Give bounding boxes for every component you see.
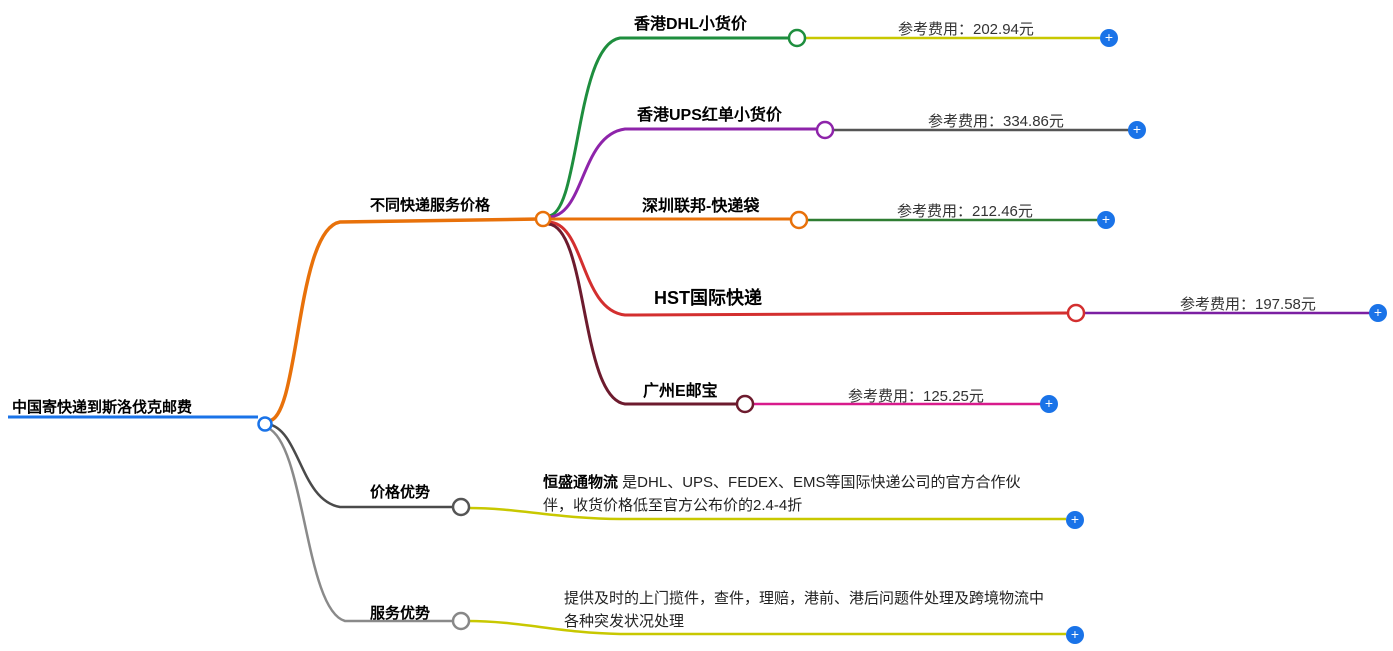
expand-button-service-advantage[interactable]: + [1066,626,1084,644]
root-node-label[interactable]: 中国寄快递到斯洛伐克邮费 [12,398,192,418]
node-dot-hk-dhl[interactable] [789,30,805,46]
mindmap-canvas [0,0,1393,651]
branch-price-advantage-label[interactable]: 价格优势 [370,483,430,503]
price-advantage-company: 恒盛通物流 [543,474,618,491]
service-advantage-description: 提供及时的上门揽件，查件，理赔，港前、港后问题件处理及跨境物流中各种突发状况处理 [564,588,1054,633]
price-advantage-description: 恒盛通物流 是DHL、UPS、FEDEX、EMS等国际快递公司的官方合作伙伴，收… [543,472,1033,517]
leaf-sz-fedex-cost: 参考费用：212.46元 [897,202,1033,222]
leaf-hst-label[interactable]: HST国际快递 [654,286,762,310]
edge-pricing-to-hk-dhl [548,38,790,216]
leaf-gz-epacket-label[interactable]: 广州E邮宝 [643,381,718,403]
expand-button-price-advantage[interactable]: + [1066,511,1084,529]
node-dot-sz-fedex[interactable] [791,212,807,228]
edge-root-to-pricing [268,219,540,421]
expand-button-hst[interactable]: + [1369,304,1387,322]
node-dot-gz-epacket[interactable] [737,396,753,412]
branch-pricing-label[interactable]: 不同快递服务价格 [370,196,490,216]
node-dot-hst[interactable] [1068,305,1084,321]
edge-pricing-to-hst [548,222,1068,315]
leaf-hk-ups-cost: 参考费用：334.86元 [928,112,1064,132]
leaf-hk-dhl-cost: 参考费用：202.94元 [898,20,1034,40]
leaf-hk-dhl-label[interactable]: 香港DHL小货价 [634,14,747,36]
expand-button-hk-ups[interactable]: + [1128,121,1146,139]
node-dot-service-advantage[interactable] [453,613,469,629]
expand-button-sz-fedex[interactable]: + [1097,211,1115,229]
leaf-hk-ups-label[interactable]: 香港UPS红单小货价 [637,105,782,127]
node-dot-pricing[interactable] [536,212,550,226]
leaf-gz-epacket-cost: 参考费用：125.25元 [848,387,984,407]
node-dot-price-advantage[interactable] [453,499,469,515]
leaf-hst-cost: 参考费用：197.58元 [1180,295,1316,315]
expand-button-gz-epacket[interactable]: + [1040,395,1058,413]
branch-service-advantage-label[interactable]: 服务优势 [370,604,430,624]
node-dot-root[interactable] [259,418,272,431]
leaf-sz-fedex-label[interactable]: 深圳联邦-快递袋 [642,196,759,218]
node-dot-hk-ups[interactable] [817,122,833,138]
expand-button-hk-dhl[interactable]: + [1100,29,1118,47]
